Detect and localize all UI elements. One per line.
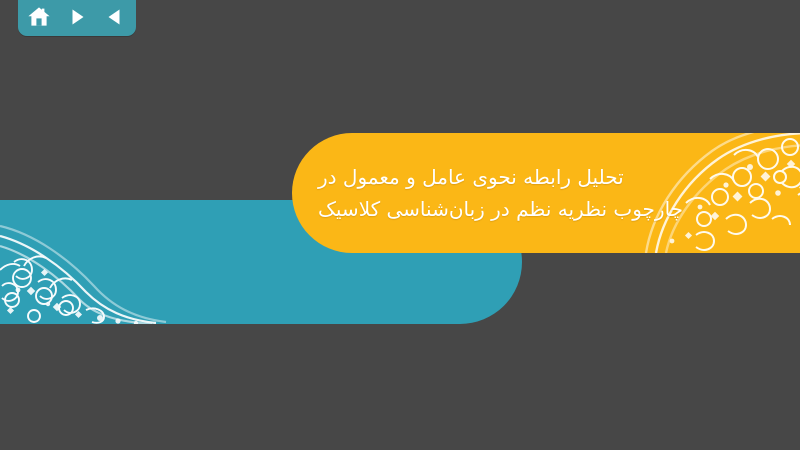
forward-button[interactable] <box>64 4 90 30</box>
home-icon <box>27 5 51 29</box>
home-button[interactable] <box>26 4 52 30</box>
navigation-bar <box>18 0 136 36</box>
triangle-left-icon <box>104 6 126 28</box>
slide-canvas: تحلیل رابطه نحوی عامل و معمول در چارچوب … <box>0 0 800 450</box>
title-line-1: تحلیل رابطه نحوی عامل و معمول در <box>318 162 624 192</box>
title-panel: تحلیل رابطه نحوی عامل و معمول در چارچوب … <box>292 133 800 253</box>
arabesque-corner-ornament <box>0 200 200 324</box>
triangle-right-icon <box>66 6 88 28</box>
slide-title: تحلیل رابطه نحوی عامل و معمول در چارچوب … <box>318 133 788 253</box>
title-line-2: چارچوب نظریه نظم در زبان‌شناسی کلاسیک <box>318 194 683 224</box>
back-button[interactable] <box>102 4 128 30</box>
